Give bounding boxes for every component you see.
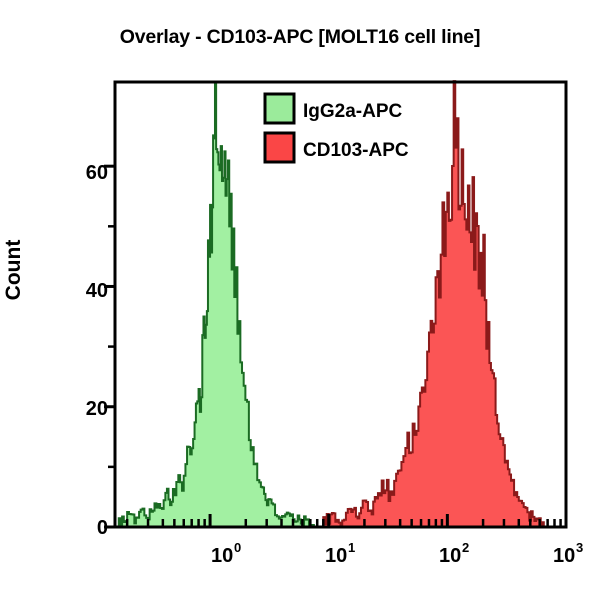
x-tick-label-100-exponent: 2 <box>462 540 469 555</box>
y-tick-label-60: 60 <box>86 162 108 184</box>
x-tick-label-1000-exponent: 3 <box>576 540 583 555</box>
y-axis-ticks <box>104 166 115 527</box>
legend-label-igg2a-apc: IgG2a-APC <box>303 101 403 122</box>
x-tick-label-1-mantissa: 10 <box>211 545 233 567</box>
legend-swatch-igg2a-apc <box>265 94 294 123</box>
x-tick-label-10-mantissa: 10 <box>325 545 347 567</box>
y-tick-label-0: 0 <box>97 517 108 539</box>
x-tick-label-1-exponent: 0 <box>234 540 241 555</box>
histogram-plot: 0 20 40 60 10 0 10 1 10 2 10 3 IgG2a-APC… <box>0 0 600 600</box>
flow-cytometry-figure: Overlay - CD103-APC [MOLT16 cell line] C… <box>0 0 600 600</box>
y-tick-label-40: 40 <box>86 280 108 302</box>
x-tick-label-10-exponent: 1 <box>348 540 355 555</box>
legend-label-cd103-apc: CD103-APC <box>303 140 409 161</box>
x-tick-label-1000-mantissa: 10 <box>553 545 575 567</box>
x-tick-label-100-mantissa: 10 <box>439 545 461 567</box>
legend-swatch-cd103-apc <box>265 133 294 162</box>
y-tick-label-20: 20 <box>86 398 108 420</box>
